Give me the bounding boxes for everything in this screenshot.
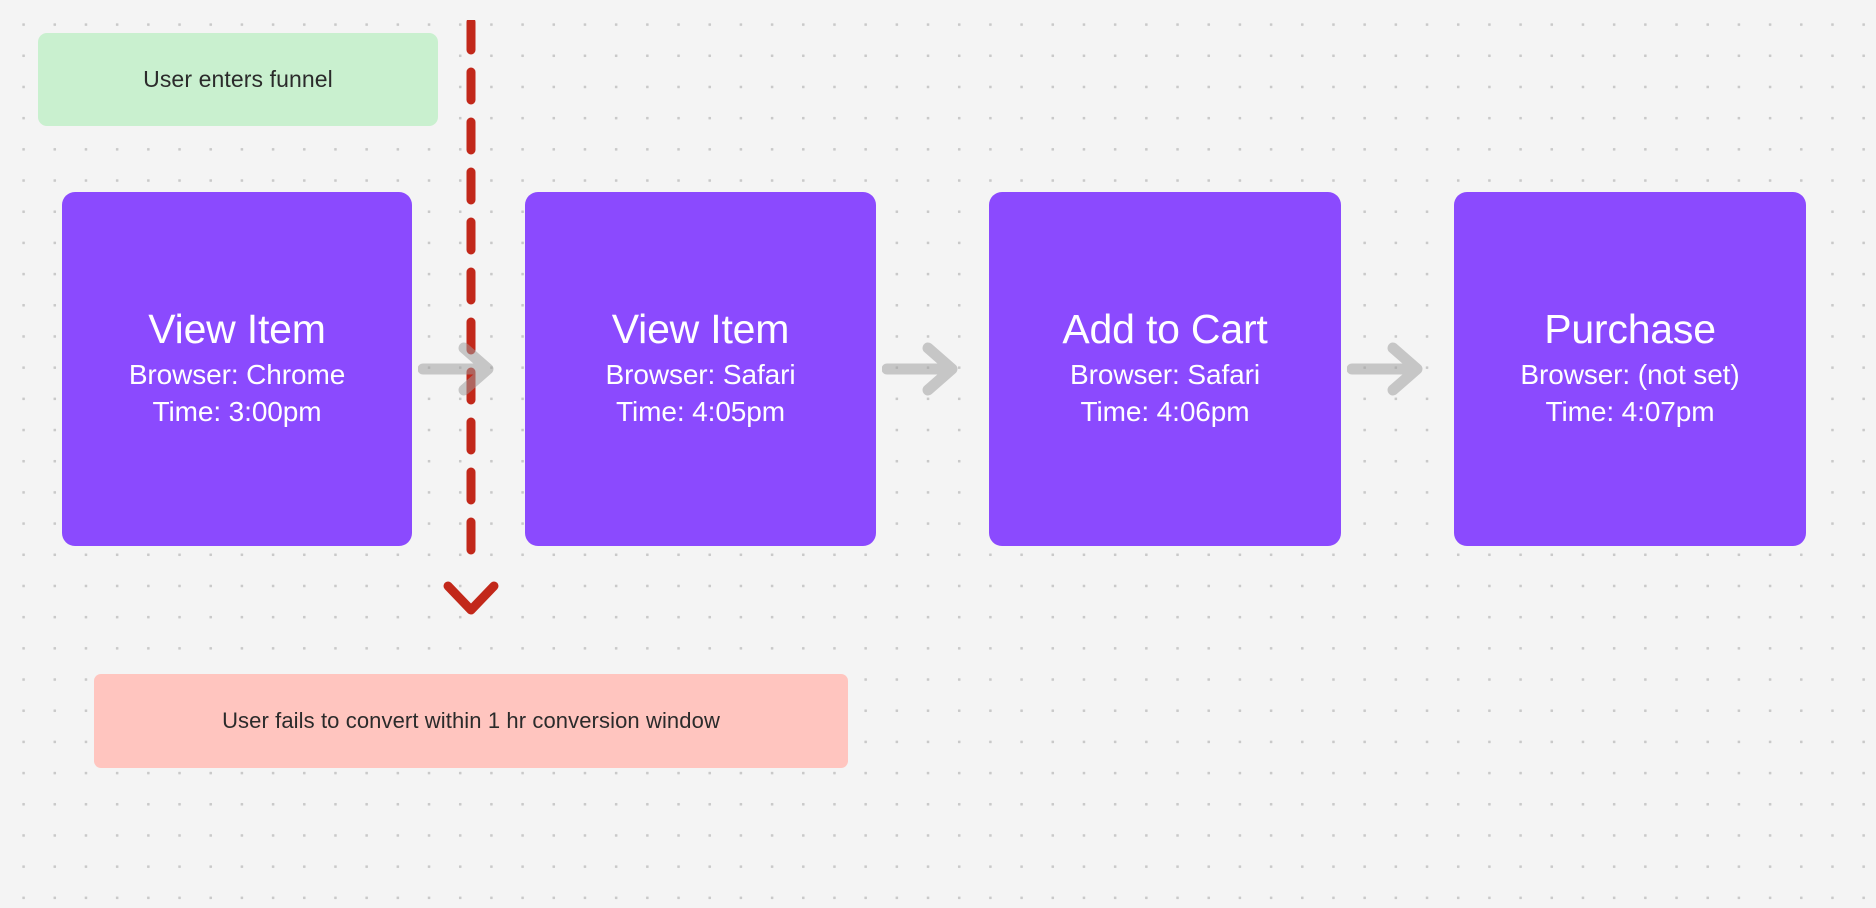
flow-arrow-right-icon — [418, 338, 498, 400]
event-node-add-to-cart[interactable]: Add to Cart Browser: Safari Time: 4:06pm — [989, 192, 1341, 546]
event-node-browser: Browser: Chrome — [129, 357, 345, 394]
annotation-entry-label: User enters funnel — [143, 66, 333, 93]
flow-arrow-right-icon — [1347, 338, 1427, 400]
event-node-title: View Item — [612, 307, 789, 351]
event-node-view-item-chrome[interactable]: View Item Browser: Chrome Time: 3:00pm — [62, 192, 412, 546]
conversion-window-dashed-line — [462, 20, 480, 565]
event-node-title: Purchase — [1544, 307, 1716, 351]
event-node-browser: Browser: Safari — [1070, 357, 1260, 394]
diagram-canvas: User enters funnel View Item Browser: Ch… — [0, 0, 1876, 908]
annotation-conversion-failure: User fails to convert within 1 hr conver… — [94, 674, 848, 768]
event-node-purchase[interactable]: Purchase Browser: (not set) Time: 4:07pm — [1454, 192, 1806, 546]
event-node-title: Add to Cart — [1062, 307, 1267, 351]
event-node-time: Time: 4:06pm — [1081, 394, 1250, 431]
event-node-time: Time: 3:00pm — [153, 394, 322, 431]
event-node-browser: Browser: Safari — [606, 357, 796, 394]
event-node-view-item-safari[interactable]: View Item Browser: Safari Time: 4:05pm — [525, 192, 876, 546]
annotation-failure-label: User fails to convert within 1 hr conver… — [222, 708, 720, 734]
conversion-window-arrowhead-icon — [440, 560, 502, 620]
flow-arrow-right-icon — [882, 338, 962, 400]
event-node-time: Time: 4:07pm — [1546, 394, 1715, 431]
event-node-browser: Browser: (not set) — [1520, 357, 1739, 394]
annotation-user-enters-funnel: User enters funnel — [38, 33, 438, 126]
event-node-title: View Item — [148, 307, 325, 351]
event-node-time: Time: 4:05pm — [616, 394, 785, 431]
